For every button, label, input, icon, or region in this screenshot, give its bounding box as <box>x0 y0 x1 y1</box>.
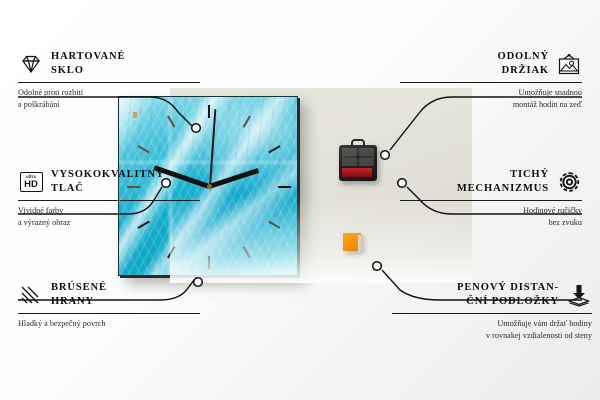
feature-title: BRÚSENÉ HRANY <box>51 281 107 309</box>
divider <box>18 82 200 83</box>
feature-title: VYSOKOKVALITNÝ TLAČ <box>51 168 164 196</box>
feature-high-quality-print: ultra HD VYSOKOKVALITNÝ TLAČ Vividné far… <box>18 168 200 229</box>
divider <box>18 313 200 314</box>
feature-description-line: v rovnakej vzdialenosti od steny <box>392 330 592 342</box>
feature-title: ODOLNÝ DRŽIAK <box>498 50 550 78</box>
feature-title-line: ODOLNÝ <box>498 50 550 64</box>
feature-description-line: montáž hodin na zeď <box>400 99 582 111</box>
feature-title-line: HARTOVANÉ <box>51 50 125 64</box>
feature-title-line: MECHANIZMUS <box>457 182 549 196</box>
ultra-hd-icon: ultra HD <box>18 170 44 194</box>
feature-description-line: a výrazný obraz <box>18 217 200 229</box>
feature-description: Hladký a bezpečný povrch <box>18 318 200 330</box>
feature-description-line: Hladký a bezpečný povrch <box>18 318 200 330</box>
diagonal-lines-icon <box>18 283 44 307</box>
feature-description-line: Vividné farby <box>18 205 200 217</box>
feature-description: Hodinové ručičky bez zvuku <box>400 205 582 228</box>
feature-header: ODOLNÝ DRŽIAK <box>400 50 582 78</box>
feature-description-line: Umožňuje vám držať hodiny <box>392 318 592 330</box>
diamond-icon <box>18 52 44 76</box>
feature-description: Umožňuje vám držať hodiny v rovnakej vzd… <box>392 318 592 341</box>
feature-durable-hanger: ODOLNÝ DRŽIAK Umožňuje snadnou montáž ho… <box>400 50 582 111</box>
feature-header: TICHÝ MECHANIZMUS <box>400 168 582 196</box>
feature-title: HARTOVANÉ SKLO <box>51 50 125 78</box>
feature-title-line: SKLO <box>51 64 125 78</box>
divider <box>18 200 200 201</box>
feature-title-line: TLAČ <box>51 182 164 196</box>
feature-header: BRÚSENÉ HRANY <box>18 281 200 309</box>
arrow-down-pad-icon <box>566 283 592 307</box>
foam-spacer-pad-side <box>358 235 363 253</box>
feature-title-line: DRŽIAK <box>498 64 550 78</box>
feature-tempered-glass: HARTOVANÉ SKLO Odolné proti rozbití a po… <box>18 50 200 111</box>
feature-title-line: BRÚSENÉ <box>51 281 107 295</box>
picture-frame-icon <box>556 52 582 76</box>
mechanism-grid <box>342 148 374 166</box>
gear-icon <box>556 170 582 194</box>
divider <box>400 200 582 201</box>
feature-description-line: Umožňuje snadnou <box>400 87 582 99</box>
feature-silent-mechanism: TICHÝ MECHANIZMUS Hodinové ručičky bez z… <box>400 168 582 229</box>
feature-description-line: a poškrábání <box>18 99 200 111</box>
feature-description-line: Hodinové ručičky <box>400 205 582 217</box>
feature-description: Vividné farby a výrazný obraz <box>18 205 200 228</box>
poster-canvas: HARTOVANÉ SKLO Odolné proti rozbití a po… <box>0 0 600 400</box>
feature-foam-spacers: PENOVÝ DISTAN- ČNÍ PODLOŽKY Umožňuje vám… <box>392 281 592 342</box>
feature-description-line: bez zvuku <box>400 217 582 229</box>
feature-description: Umožňuje snadnou montáž hodin na zeď <box>400 87 582 110</box>
feature-description-line: Odolné proti rozbití <box>18 87 200 99</box>
feature-title-line: ČNÍ PODLOŽKY <box>457 295 559 309</box>
divider <box>400 82 582 83</box>
feature-header: HARTOVANÉ SKLO <box>18 50 200 78</box>
feature-title: TICHÝ MECHANIZMUS <box>457 168 549 196</box>
feature-title-line: TICHÝ <box>457 168 549 182</box>
clock-mechanism <box>339 145 377 181</box>
battery-terminal <box>133 112 137 118</box>
feature-description: Odolné proti rozbití a poškrábání <box>18 87 200 110</box>
feature-header: ultra HD VYSOKOKVALITNÝ TLAČ <box>18 168 200 196</box>
feature-title-line: VYSOKOKVALITNÝ <box>51 168 164 182</box>
feature-title-line: PENOVÝ DISTAN- <box>457 281 559 295</box>
feature-polished-edges: BRÚSENÉ HRANY Hladký a bezpečný povrch <box>18 281 200 330</box>
feature-title: PENOVÝ DISTAN- ČNÍ PODLOŽKY <box>457 281 559 309</box>
divider <box>392 313 592 314</box>
battery <box>342 168 372 177</box>
ultra-hd-icon-main-label: HD <box>24 180 38 190</box>
feature-title-line: HRANY <box>51 295 107 309</box>
feature-header: PENOVÝ DISTAN- ČNÍ PODLOŽKY <box>392 281 592 309</box>
mechanism-hanger-icon <box>351 139 365 147</box>
